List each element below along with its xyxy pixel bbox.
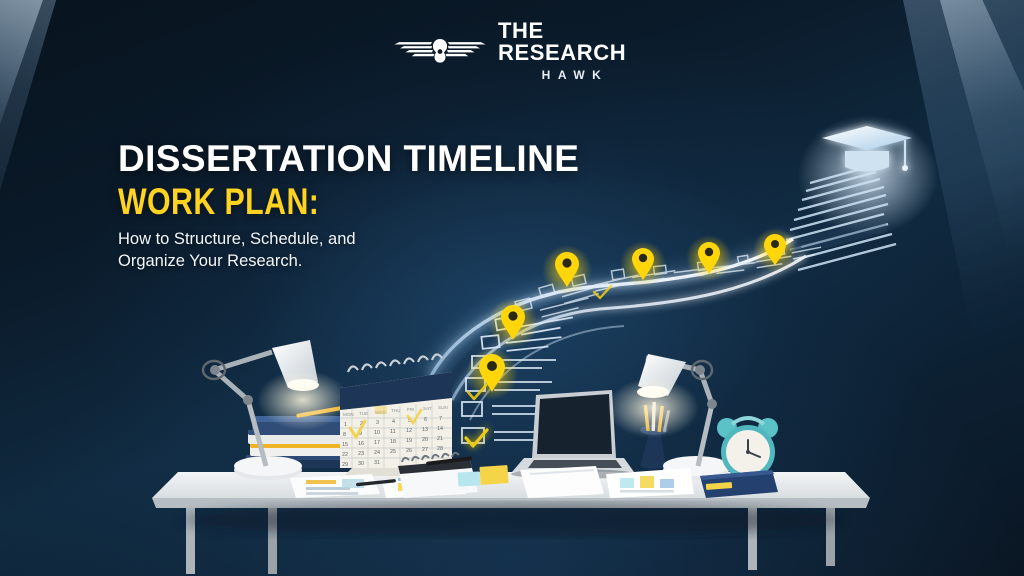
headline-block: DISSERTATION TIMELINE WORK PLAN: How to … xyxy=(118,140,678,273)
checkmark-icon xyxy=(468,385,486,399)
banner-canvas: MONTUEWED THUFRISAT SUN 123 4567 8910 11… xyxy=(0,0,1024,576)
svg-text:6: 6 xyxy=(424,417,427,423)
sticky-note-icon xyxy=(458,471,481,486)
svg-text:27: 27 xyxy=(422,447,428,453)
svg-text:18: 18 xyxy=(390,439,396,445)
checkmark-icon xyxy=(466,430,487,446)
svg-text:13: 13 xyxy=(422,427,428,433)
svg-text:WED: WED xyxy=(375,410,386,415)
svg-text:15: 15 xyxy=(342,442,348,448)
graduation-cap-icon xyxy=(822,126,912,172)
map-pin-icon xyxy=(753,228,797,272)
page-title: DISSERTATION TIMELINE xyxy=(118,140,678,178)
notebook-icon xyxy=(398,453,478,498)
svg-text:THU: THU xyxy=(391,408,400,413)
svg-text:24: 24 xyxy=(374,450,380,456)
svg-text:25: 25 xyxy=(390,449,396,455)
svg-text:20: 20 xyxy=(422,437,428,443)
map-pin-icon xyxy=(488,298,538,348)
svg-text:16: 16 xyxy=(358,441,364,447)
svg-text:11: 11 xyxy=(390,429,396,435)
logo-text-primary: THE RESEARCH xyxy=(498,20,652,64)
map-pin-icon xyxy=(466,348,518,400)
svg-text:MON: MON xyxy=(343,412,354,417)
page-subtitle: How to Structure, Schedule, and Organize… xyxy=(118,229,678,273)
spotlight-core-left xyxy=(0,0,116,282)
desk-lamp-right xyxy=(607,354,729,480)
sticky-note-icon xyxy=(479,465,508,485)
svg-text:FRI: FRI xyxy=(407,407,414,412)
pen-icon xyxy=(426,456,472,466)
laptop-icon xyxy=(511,390,635,479)
spotlight-core-right xyxy=(869,0,1024,279)
calendar-icon: MONTUEWED THUFRISAT SUN 123 4567 8910 11… xyxy=(340,354,452,476)
calendar-highlight-check xyxy=(350,421,365,437)
svg-text:12: 12 xyxy=(406,428,412,434)
logo-text-secondary: HAWK xyxy=(498,69,652,81)
svg-text:9: 9 xyxy=(359,431,362,437)
page-subtitle-line2: Organize Your Research. xyxy=(118,252,302,270)
spotlight-beam-right xyxy=(782,0,1024,384)
svg-text:SAT: SAT xyxy=(423,406,432,411)
desk-journey-illustration: MONTUEWED THUFRISAT SUN 123 4567 8910 11… xyxy=(0,0,1024,576)
pencil-cup-icon xyxy=(640,402,670,469)
svg-text:3: 3 xyxy=(376,420,379,426)
goal-stairs xyxy=(786,115,938,270)
svg-text:26: 26 xyxy=(406,448,412,454)
svg-text:2: 2 xyxy=(360,421,363,427)
desk xyxy=(152,472,870,574)
svg-text:TUE: TUE xyxy=(359,411,368,416)
svg-text:8: 8 xyxy=(343,432,346,438)
pen-icon xyxy=(356,479,396,487)
svg-text:28: 28 xyxy=(437,446,443,452)
hawk-wings-icon xyxy=(392,28,488,72)
svg-text:31: 31 xyxy=(374,460,380,466)
svg-text:21: 21 xyxy=(437,436,443,442)
desk-papers xyxy=(290,453,778,498)
brand-logo[interactable]: THE RESEARCH HAWK xyxy=(392,22,652,78)
map-pin-icon xyxy=(686,235,732,281)
desk-lamp-left xyxy=(203,340,349,480)
checkmark-icon xyxy=(594,286,611,298)
svg-text:14: 14 xyxy=(437,426,443,432)
svg-text:4: 4 xyxy=(392,419,395,425)
svg-text:7: 7 xyxy=(439,416,442,422)
svg-text:17: 17 xyxy=(374,440,380,446)
navy-notebook-icon xyxy=(700,470,778,498)
svg-text:23: 23 xyxy=(358,451,364,457)
books-icon xyxy=(246,406,356,468)
calendar-highlight-check xyxy=(408,410,421,423)
checklist-group xyxy=(462,247,822,446)
svg-text:1: 1 xyxy=(344,422,347,428)
page-title-highlight: WORK PLAN: xyxy=(118,183,577,220)
svg-text:30: 30 xyxy=(358,461,364,467)
page-subtitle-line1: How to Structure, Schedule, and xyxy=(118,230,356,248)
svg-text:19: 19 xyxy=(406,438,412,444)
svg-text:5: 5 xyxy=(408,418,411,424)
alarm-clock-icon xyxy=(717,418,778,483)
svg-text:10: 10 xyxy=(374,430,380,436)
svg-text:22: 22 xyxy=(342,452,348,458)
svg-text:29: 29 xyxy=(342,462,348,468)
svg-text:SUN: SUN xyxy=(438,405,448,410)
